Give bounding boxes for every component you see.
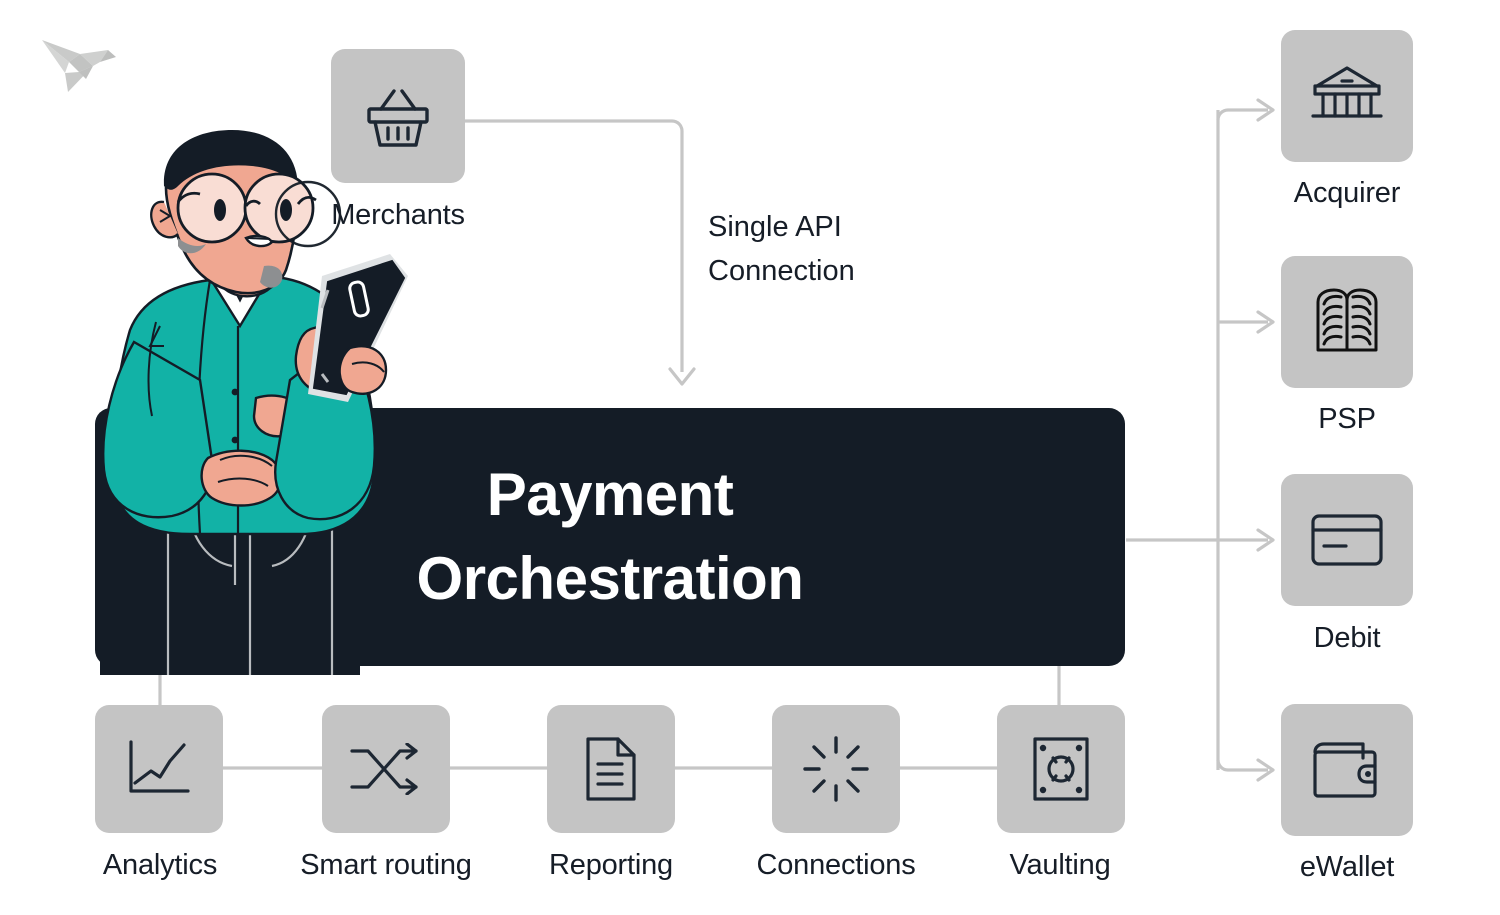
origami-bird-logo (38, 32, 130, 100)
label-debit: Debit (1314, 622, 1381, 655)
annotation-single-api-connection: Single API Connection (708, 205, 855, 293)
tile-reporting[interactable] (547, 705, 675, 833)
tile-analytics[interactable] (95, 705, 223, 833)
label-connections: Connections (756, 849, 915, 882)
label-analytics: Analytics (103, 849, 217, 882)
tile-smart-routing[interactable] (322, 705, 450, 833)
hub-title-line-1: Payment (487, 453, 734, 537)
label-vaulting: Vaulting (1009, 849, 1110, 882)
merchant-person-with-tablet (60, 130, 430, 675)
label-reporting: Reporting (549, 849, 673, 882)
label-psp: PSP (1318, 403, 1375, 436)
bank-building-icon (1309, 64, 1385, 128)
wallet-icon (1311, 740, 1383, 800)
safe-vault-icon (1032, 736, 1090, 802)
line-chart-icon (126, 739, 192, 799)
credit-card-icon (1310, 512, 1384, 568)
tile-ewallet[interactable] (1281, 704, 1413, 836)
tile-vaulting[interactable] (997, 705, 1125, 833)
label-ewallet: eWallet (1300, 851, 1394, 884)
tile-psp[interactable] (1281, 256, 1413, 388)
document-icon (584, 736, 638, 802)
tile-connections[interactable] (772, 705, 900, 833)
tile-acquirer[interactable] (1281, 30, 1413, 162)
diagram-canvas: Merchants Single API Connection Payment … (0, 0, 1500, 915)
burst-icon (803, 736, 869, 802)
label-smart-routing: Smart routing (300, 849, 471, 882)
shuffle-icon (350, 743, 422, 795)
label-acquirer: Acquirer (1294, 177, 1400, 210)
open-book-icon (1314, 288, 1380, 356)
hub-title-line-2: Orchestration (417, 537, 804, 621)
tile-debit[interactable] (1281, 474, 1413, 606)
